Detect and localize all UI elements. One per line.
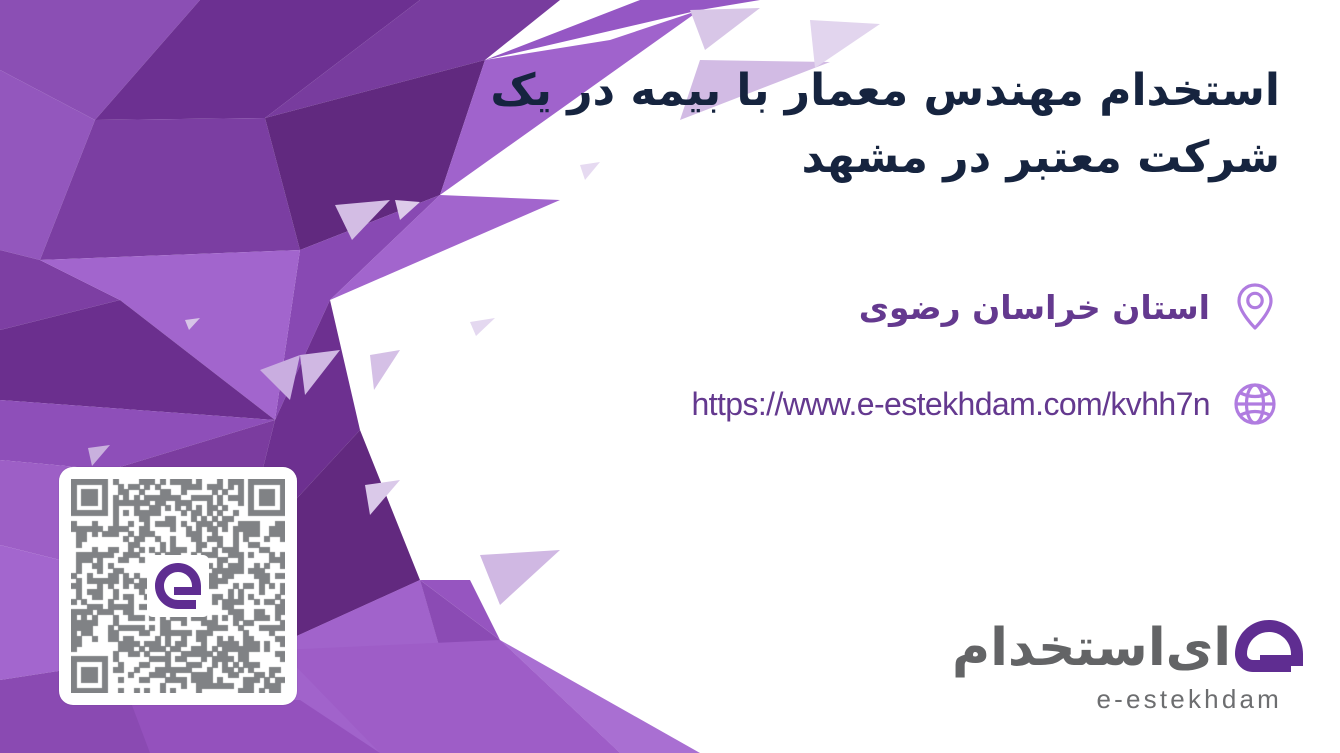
job-poster-card: استخدام مهندس معمار با بیمه در یک شرکت م… — [0, 0, 1340, 753]
qr-code[interactable] — [59, 467, 297, 705]
qr-center-e-mark-icon — [147, 555, 209, 617]
location-pin-icon — [1230, 282, 1280, 332]
brand-latin-wordmark: e-estekhdam — [952, 684, 1282, 715]
brand-e-mark-icon — [1231, 616, 1307, 680]
page-title: استخدام مهندس معمار با بیمه در یک شرکت م… — [360, 58, 1280, 192]
location-row: استان خراسان رضوی — [859, 276, 1280, 338]
brand-persian-wordmark: ای‌استخدام — [952, 622, 1231, 674]
location-value: استان خراسان رضوی — [859, 288, 1210, 327]
website-url[interactable]: https://www.e-estekhdam.com/kvhh7n — [691, 386, 1210, 423]
website-row[interactable]: https://www.e-estekhdam.com/kvhh7n — [691, 374, 1280, 434]
globe-icon — [1230, 379, 1280, 429]
brand-logo: ای‌استخدام e-estekhdam — [952, 616, 1282, 715]
brand-wordmark: ای‌استخدام — [952, 616, 1282, 680]
